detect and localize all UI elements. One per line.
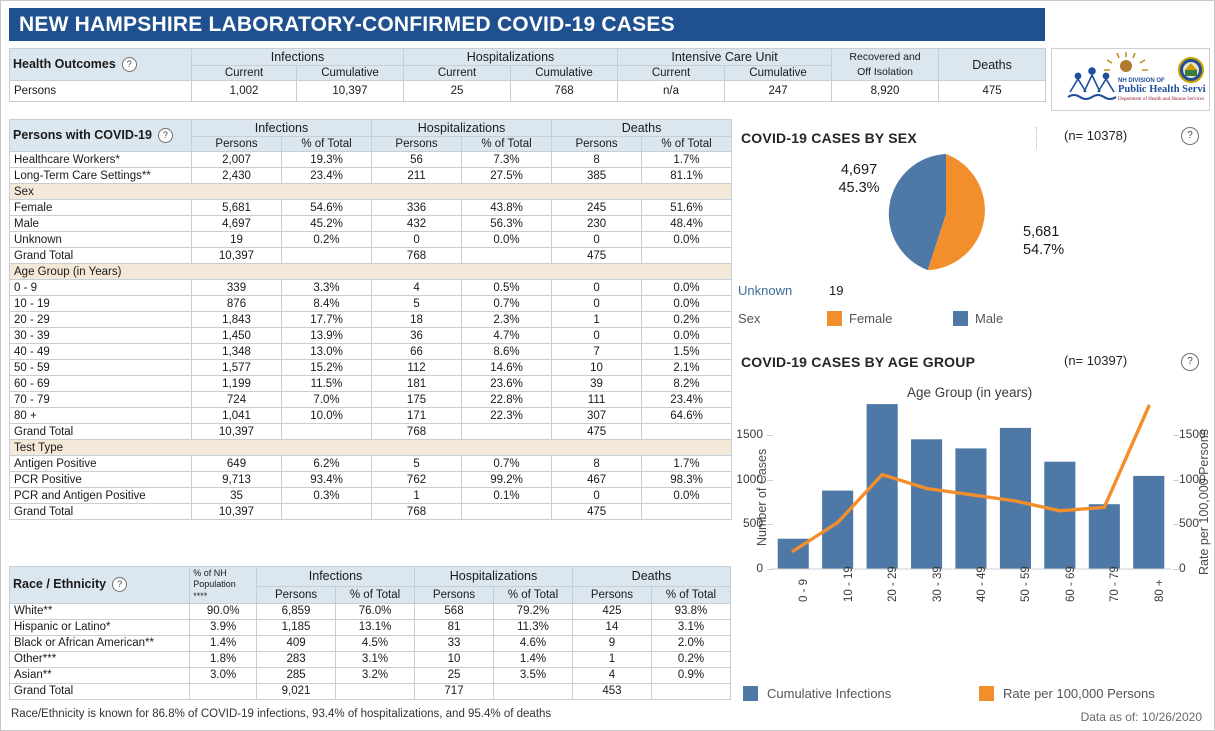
pie-legend-title: Sex — [738, 311, 760, 326]
cell-pct-nh-population: 1.4% — [190, 635, 257, 651]
subheader-icu-current: Current — [618, 66, 725, 81]
cell: 9,021 — [257, 683, 336, 699]
cell: 9,713 — [192, 472, 282, 488]
cell: 1,843 — [192, 312, 282, 328]
cell: 453 — [572, 683, 651, 699]
pie-unknown-label: Unknown — [738, 283, 792, 298]
col-group-infections: Infections — [192, 49, 404, 66]
table-row: Black or African American**1.4%4094.5%33… — [10, 635, 731, 651]
table-row: 80 +1,04110.0%17122.3%30764.6% — [10, 408, 732, 424]
row-label-persons: Persons — [10, 81, 192, 102]
bar-40-49[interactable] — [955, 448, 986, 569]
legend-swatch-cumulative-infections[interactable] — [743, 686, 758, 701]
bar-30-39[interactable] — [911, 439, 942, 569]
tick-mark — [1173, 524, 1179, 525]
legend-label-female[interactable]: Female — [849, 311, 892, 326]
cell: 724 — [192, 392, 282, 408]
row-label: Antigen Positive — [10, 456, 192, 472]
health-outcomes-table: Health Outcomes? Infections Hospitalizat… — [9, 48, 1046, 102]
pop-header-line2: Population — [193, 579, 236, 589]
x-tick-30-39: 30 - 39 — [932, 566, 944, 602]
table-row: 60 - 691,19911.5%18123.6%398.2% — [10, 376, 732, 392]
cell-pct-nh-population: 3.9% — [190, 619, 257, 635]
cell: 8.2% — [642, 376, 732, 392]
x-tick-20-29: 20 - 29 — [887, 566, 899, 602]
cell: 2.3% — [462, 312, 552, 328]
row-label: 0 - 9 — [10, 280, 192, 296]
cell: 13.1% — [336, 619, 415, 635]
cell: 43.8% — [462, 200, 552, 216]
cell: 10,397 — [192, 424, 282, 440]
cell: 39 — [552, 376, 642, 392]
cell: 0 — [552, 488, 642, 504]
help-icon[interactable]: ? — [112, 577, 127, 592]
cell: 4.7% — [462, 328, 552, 344]
table-row: 0 - 93393.3%40.5%00.0% — [10, 280, 732, 296]
cell — [282, 504, 372, 520]
col-group-hospitalizations: Hospitalizations — [372, 120, 552, 137]
cell: 717 — [415, 683, 494, 699]
row-label: 70 - 79 — [10, 392, 192, 408]
cell: 45.2% — [282, 216, 372, 232]
tick-mark — [1173, 569, 1179, 570]
cell: 8 — [552, 456, 642, 472]
persons-table-header: Persons with COVID-19? Infections Hospit… — [10, 120, 732, 152]
tick-mark — [767, 435, 773, 436]
x-tick-50-59: 50 - 59 — [1020, 566, 1032, 602]
pie-label-female: 5,681 54.7% — [1023, 223, 1103, 259]
cell: 385 — [552, 168, 642, 184]
table-row: Asian**3.0%2853.2%253.5%40.9% — [10, 667, 731, 683]
tick-mark — [767, 480, 773, 481]
col-pct-nh-population: % of NH Population **** — [190, 567, 257, 604]
legend-label-rate[interactable]: Rate per 100,000 Persons — [1003, 686, 1155, 701]
table-row: Female5,68154.6%33643.8%24551.6% — [10, 200, 732, 216]
subheader-0: Persons — [257, 586, 336, 603]
cell: 425 — [572, 603, 651, 619]
cell: 1.4% — [493, 651, 572, 667]
cell: 4,697 — [192, 216, 282, 232]
row-label: White** — [10, 603, 190, 619]
cell: 409 — [257, 635, 336, 651]
tick-mark — [1173, 435, 1179, 436]
cell: 467 — [552, 472, 642, 488]
logo-icon: NH DIVISION OF Public Health Services De… — [1056, 52, 1206, 108]
legend-swatch-female[interactable] — [827, 311, 842, 326]
cell: 432 — [372, 216, 462, 232]
cell: 0.0% — [642, 488, 732, 504]
cell: 0 — [552, 232, 642, 248]
cell: 0 — [552, 296, 642, 312]
col-group-deaths: Deaths — [552, 120, 732, 137]
cell: 98.3% — [642, 472, 732, 488]
cell: 99.2% — [462, 472, 552, 488]
table-row: Healthcare Workers*2,00719.3%567.3%81.7% — [10, 152, 732, 168]
y-tick-right-0: 0 — [1179, 561, 1186, 575]
cell-pct-nh-population: 1.8% — [190, 651, 257, 667]
cell — [282, 424, 372, 440]
section-label: Sex — [10, 184, 732, 200]
cell: 0.9% — [651, 667, 730, 683]
col-group-infections: Infections — [192, 120, 372, 137]
table-row: 20 - 291,84317.7%182.3%10.2% — [10, 312, 732, 328]
cell: 23.6% — [462, 376, 552, 392]
subheader-4: Persons — [552, 137, 642, 152]
cell: 66 — [372, 344, 462, 360]
subheader-0: Persons — [192, 137, 282, 152]
cell: 1,199 — [192, 376, 282, 392]
cell: 768 — [372, 424, 462, 440]
subheader-hosp-cumulative: Cumulative — [511, 66, 618, 81]
cell: 0.2% — [282, 232, 372, 248]
bar-80+[interactable] — [1133, 476, 1164, 569]
cell: 18 — [372, 312, 462, 328]
table-row: Persons 1,002 10,397 25 768 n/a 247 8,92… — [10, 81, 1046, 102]
tick-mark — [767, 524, 773, 525]
cell: 56.3% — [462, 216, 552, 232]
cell: 33 — [415, 635, 494, 651]
x-tick-60-69: 60 - 69 — [1065, 566, 1077, 602]
row-label: Unknown — [10, 232, 192, 248]
subheader-infections-cumulative: Cumulative — [297, 66, 404, 81]
cell: 336 — [372, 200, 462, 216]
cell: 10 — [552, 360, 642, 376]
cell: 8 — [552, 152, 642, 168]
cell: 1 — [372, 488, 462, 504]
subheader-3: % of Total — [462, 137, 552, 152]
pop-header-line3: **** — [193, 591, 207, 601]
table-row: PCR Positive9,71393.4%76299.2%46798.3% — [10, 472, 732, 488]
cell: 1.7% — [642, 456, 732, 472]
table-row: PCR and Antigen Positive350.3%10.1%00.0% — [10, 488, 732, 504]
cell: 175 — [372, 392, 462, 408]
help-icon[interactable]: ? — [122, 57, 137, 72]
table-row: 50 - 591,57715.2%11214.6%102.1% — [10, 360, 732, 376]
cell-pct-nh-population: 3.0% — [190, 667, 257, 683]
cell: 171 — [372, 408, 462, 424]
row-label: PCR and Antigen Positive — [10, 488, 192, 504]
cell: 768 — [372, 504, 462, 520]
row-label: Long-Term Care Settings** — [10, 168, 192, 184]
cell: 876 — [192, 296, 282, 312]
cell: 54.6% — [282, 200, 372, 216]
table-row: Antigen Positive6496.2%50.7%81.7% — [10, 456, 732, 472]
age-chart-subtitle: Age Group (in years) — [907, 385, 1032, 400]
cell: 0.0% — [642, 296, 732, 312]
subheader-2: Persons — [415, 586, 494, 603]
subheader-infections-current: Current — [192, 66, 297, 81]
cell: 768 — [372, 248, 462, 264]
x-tick-70-79: 70 - 79 — [1109, 566, 1121, 602]
cell: 5 — [372, 456, 462, 472]
cell — [642, 504, 732, 520]
cell: 3.1% — [336, 651, 415, 667]
row-label: Male — [10, 216, 192, 232]
row-label: Grand Total — [10, 504, 192, 520]
cell: 23.4% — [282, 168, 372, 184]
cell: 4.5% — [336, 635, 415, 651]
legend-swatch-rate[interactable] — [979, 686, 994, 701]
cell: 93.8% — [651, 603, 730, 619]
cell — [651, 683, 730, 699]
bar-60-69[interactable] — [1044, 462, 1075, 569]
cell: 13.0% — [282, 344, 372, 360]
cell: 48.4% — [642, 216, 732, 232]
cell: 10,397 — [192, 504, 282, 520]
x-tick-0-9: 0 - 9 — [798, 579, 810, 602]
cell: 14.6% — [462, 360, 552, 376]
section-row: Test Type — [10, 440, 732, 456]
total-row: Grand Total10,397768475 — [10, 424, 732, 440]
cell: 6,859 — [257, 603, 336, 619]
cell-hosp-cumulative: 768 — [511, 81, 618, 102]
cell: 245 — [552, 200, 642, 216]
cell: 93.4% — [282, 472, 372, 488]
cell-icu-current: n/a — [618, 81, 725, 102]
cell: 22.8% — [462, 392, 552, 408]
subheader-5: % of Total — [651, 586, 730, 603]
sex-pie-chart[interactable] — [881, 149, 1021, 279]
section-label: Age Group (in Years) — [10, 264, 732, 280]
pie-chart-title: COVID-19 CASES BY SEX — [741, 130, 917, 146]
y-tick-right-1500: 1500 — [1179, 427, 1206, 441]
cell — [462, 504, 552, 520]
total-row: Grand Total10,397768475 — [10, 248, 732, 264]
cell: 0.2% — [651, 651, 730, 667]
cell: 4 — [572, 667, 651, 683]
cell: 762 — [372, 472, 462, 488]
data-as-of: Data as of: 10/26/2020 — [1081, 710, 1202, 724]
row-label: Healthcare Workers* — [10, 152, 192, 168]
table-row: Hispanic or Latino*3.9%1,18513.1%8111.3%… — [10, 619, 731, 635]
cell: 22.3% — [462, 408, 552, 424]
recovered-line1: Recovered and — [849, 51, 920, 63]
col-group-icu: Intensive Care Unit — [618, 49, 832, 66]
cell: 0.7% — [462, 456, 552, 472]
row-label: Other*** — [10, 651, 190, 667]
cell: 8.6% — [462, 344, 552, 360]
cell: 5,681 — [192, 200, 282, 216]
row-label: Hispanic or Latino* — [10, 619, 190, 635]
total-row: Grand Total9,021717453 — [10, 683, 731, 699]
cell: 0.5% — [462, 280, 552, 296]
cell: 1,450 — [192, 328, 282, 344]
cell: 211 — [372, 168, 462, 184]
legend-label-male[interactable]: Male — [975, 311, 1003, 326]
legend-swatch-male[interactable] — [953, 311, 968, 326]
cell — [336, 683, 415, 699]
help-icon[interactable]: ? — [1181, 353, 1199, 371]
pie-chart-n: (n= 10378) — [1064, 128, 1127, 143]
cell: 2,007 — [192, 152, 282, 168]
table-row: Other***1.8%2833.1%101.4%10.2% — [10, 651, 731, 667]
cell: 339 — [192, 280, 282, 296]
row-label: 60 - 69 — [10, 376, 192, 392]
persons-table-body: Healthcare Workers*2,00719.3%567.3%81.7%… — [10, 152, 732, 520]
subheader-3: % of Total — [493, 586, 572, 603]
cell — [493, 683, 572, 699]
cell — [462, 248, 552, 264]
cell: 285 — [257, 667, 336, 683]
cell — [642, 248, 732, 264]
cell: 1.7% — [642, 152, 732, 168]
help-icon[interactable]: ? — [1181, 127, 1199, 145]
table-row: 40 - 491,34813.0%668.6%71.5% — [10, 344, 732, 360]
dashboard-root: NEW HAMPSHIRE LABORATORY-CONFIRMED COVID… — [0, 0, 1215, 731]
row-label: Grand Total — [10, 248, 192, 264]
cell: 35 — [192, 488, 282, 504]
y-axis-label-left: Number of Cases — [755, 449, 769, 546]
page-title: NEW HAMPSHIRE LABORATORY-CONFIRMED COVID… — [9, 8, 1045, 41]
cell: 1,348 — [192, 344, 282, 360]
table-row: Male4,69745.2%43256.3%23048.4% — [10, 216, 732, 232]
x-tick-40-49: 40 - 49 — [976, 566, 988, 602]
cell: 13.9% — [282, 328, 372, 344]
row-label: Female — [10, 200, 192, 216]
cell: 0.0% — [642, 232, 732, 248]
cell: 3.1% — [651, 619, 730, 635]
nh-dhhs-logo: NH DIVISION OF Public Health Services De… — [1051, 48, 1210, 111]
cell: 0.1% — [462, 488, 552, 504]
row-label: Black or African American** — [10, 635, 190, 651]
pie-label-female-value: 5,681 — [1023, 224, 1059, 240]
logo-line2: Public Health Services — [1118, 84, 1206, 95]
persons-table-corner-label: Persons with COVID-19 — [13, 128, 152, 142]
row-label: 30 - 39 — [10, 328, 192, 344]
subheader-1: % of Total — [336, 586, 415, 603]
recovered-line2: Off Isolation — [857, 66, 913, 78]
col-group-hospitalizations: Hospitalizations — [415, 567, 573, 587]
cell: 111 — [552, 392, 642, 408]
cell-pct-nh-population: 90.0% — [190, 603, 257, 619]
cell: 2,430 — [192, 168, 282, 184]
table-row: 70 - 797247.0%17522.8%11123.4% — [10, 392, 732, 408]
col-group-hospitalizations: Hospitalizations — [404, 49, 618, 66]
row-label: Grand Total — [10, 683, 190, 699]
race-table-body: White**90.0%6,85976.0%56879.2%42593.8%Hi… — [10, 603, 731, 699]
row-label: Grand Total — [10, 424, 192, 440]
age-chart-title: COVID-19 CASES BY AGE GROUP — [741, 354, 975, 370]
x-tick-10-19: 10 - 19 — [843, 566, 855, 602]
cell: 17.7% — [282, 312, 372, 328]
cell: 0.0% — [462, 232, 552, 248]
cell: 4 — [372, 280, 462, 296]
bar-70-79[interactable] — [1089, 504, 1120, 569]
row-label: 80 + — [10, 408, 192, 424]
y-axis-label-right: Rate per 100,000 Persons — [1197, 429, 1211, 575]
cell-pct-nh-population — [190, 683, 257, 699]
tick-mark — [1173, 480, 1179, 481]
cell: 1,577 — [192, 360, 282, 376]
cell: 230 — [552, 216, 642, 232]
table-row: Long-Term Care Settings**2,43023.4%21127… — [10, 168, 732, 184]
persons-table-corner: Persons with COVID-19? — [10, 120, 192, 152]
cell: 8.4% — [282, 296, 372, 312]
cell: 283 — [257, 651, 336, 667]
table-row: 10 - 198768.4%50.7%00.0% — [10, 296, 732, 312]
col-group-infections: Infections — [257, 567, 415, 587]
cell: 7.3% — [462, 152, 552, 168]
persons-with-covid-table: Persons with COVID-19? Infections Hospit… — [9, 119, 732, 520]
cell: 4.6% — [493, 635, 572, 651]
logo-line3: Department of Health and Human Services — [1118, 97, 1204, 102]
table-row: Unknown190.2%00.0%00.0% — [10, 232, 732, 248]
cell: 568 — [415, 603, 494, 619]
section-row: Sex — [10, 184, 732, 200]
col-group-recovered: Recovered and Off Isolation — [832, 49, 939, 81]
cell: 9 — [572, 635, 651, 651]
y-tick-right-500: 500 — [1179, 516, 1199, 530]
section-row: Age Group (in Years) — [10, 264, 732, 280]
table-row: White**90.0%6,85976.0%56879.2%42593.8% — [10, 603, 731, 619]
age-chart-n: (n= 10397) — [1064, 353, 1127, 368]
pie-label-male-percent: 45.3% — [838, 180, 879, 196]
cell — [462, 424, 552, 440]
race-table-corner-label: Race / Ethnicity — [13, 577, 106, 591]
cell: 0.2% — [642, 312, 732, 328]
col-group-deaths: Deaths — [939, 49, 1046, 81]
subheader-hosp-current: Current — [404, 66, 511, 81]
cell: 181 — [372, 376, 462, 392]
pie-label-male-value: 4,697 — [841, 162, 877, 178]
cell-hosp-current: 25 — [404, 81, 511, 102]
section-label: Test Type — [10, 440, 732, 456]
y-tick-right-1000: 1000 — [1179, 472, 1206, 486]
cell: 7.0% — [282, 392, 372, 408]
cell: 51.6% — [642, 200, 732, 216]
cell-infections-cumulative: 10,397 — [297, 81, 404, 102]
cell: 0.3% — [282, 488, 372, 504]
cell: 0 — [552, 280, 642, 296]
age-group-bar-chart[interactable] — [771, 399, 1171, 589]
cell: 2.0% — [651, 635, 730, 651]
subheader-icu-cumulative: Cumulative — [725, 66, 832, 81]
cell: 0.0% — [642, 328, 732, 344]
cell: 81 — [415, 619, 494, 635]
subheader-5: % of Total — [642, 137, 732, 152]
tick-mark — [767, 569, 773, 570]
cell: 10 — [415, 651, 494, 667]
pie-label-female-percent: 54.7% — [1023, 242, 1064, 258]
subheader-2: Persons — [372, 137, 462, 152]
cell: 3.3% — [282, 280, 372, 296]
cell-deaths: 475 — [939, 81, 1046, 102]
cell: 19 — [192, 232, 282, 248]
cell: 307 — [552, 408, 642, 424]
cell: 11.3% — [493, 619, 572, 635]
legend-label-cumulative-infections[interactable]: Cumulative Infections — [767, 686, 891, 701]
row-label: 10 - 19 — [10, 296, 192, 312]
cell: 19.3% — [282, 152, 372, 168]
cell: 76.0% — [336, 603, 415, 619]
cell: 0 — [372, 232, 462, 248]
row-label: 50 - 59 — [10, 360, 192, 376]
cell: 5 — [372, 296, 462, 312]
help-icon[interactable]: ? — [158, 128, 173, 143]
cell: 1 — [572, 651, 651, 667]
pie-unknown-value: 19 — [829, 283, 843, 298]
cell: 10,397 — [192, 248, 282, 264]
row-label: 20 - 29 — [10, 312, 192, 328]
cell: 3.2% — [336, 667, 415, 683]
cell: 11.5% — [282, 376, 372, 392]
cell: 0.7% — [462, 296, 552, 312]
cell: 112 — [372, 360, 462, 376]
cell: 1,185 — [257, 619, 336, 635]
cell: 56 — [372, 152, 462, 168]
cell: 475 — [552, 504, 642, 520]
cell: 27.5% — [462, 168, 552, 184]
